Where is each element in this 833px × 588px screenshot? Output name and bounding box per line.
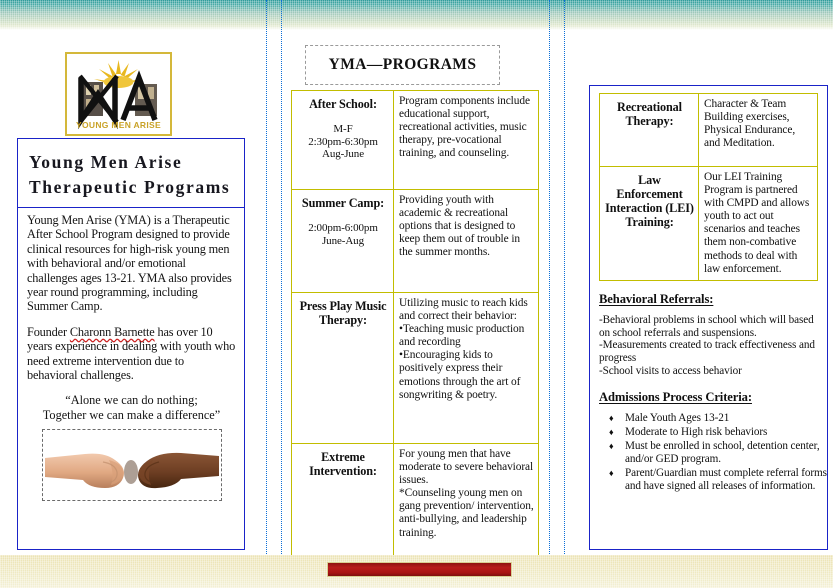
programs-header-text: YMA—PROGRAMS <box>329 56 477 74</box>
behavioral-referrals-heading: Behavioral Referrals: <box>599 292 827 307</box>
program-name: Press Play Music Therapy: <box>300 299 387 327</box>
table-row: Law Enforcement Interaction (LEI) Traini… <box>600 167 818 281</box>
quote-line-1: “Alone we can do nothing; <box>27 393 236 408</box>
program-schedule-2: June-Aug <box>297 235 389 248</box>
fist-bump-illustration <box>43 430 221 500</box>
program-name-cell: Press Play Music Therapy: <box>292 293 394 444</box>
program-schedule-3: Aug-June <box>297 148 389 161</box>
program-name-cell: Recreational Therapy: <box>600 94 699 167</box>
behavioral-referrals-list: -Behavioral problems in school which wil… <box>599 314 827 378</box>
program-name: Extreme Intervention: <box>309 450 377 478</box>
program-schedule-2: 2:30pm-6:30pm <box>297 136 389 149</box>
quote-line-2: Together we can make a difference” <box>27 408 236 423</box>
svg-text:YOUNG MEN ARISE: YOUNG MEN ARISE <box>76 120 161 130</box>
program-name: After School: <box>309 97 377 111</box>
program-name-cell: Summer Camp: 2:00pm-6:00pm June-Aug <box>292 190 394 293</box>
brochure-page: YOUNG MEN ARISE Young Men Arise Therapeu… <box>0 0 833 588</box>
program-description-cell: Our LEI Training Program is partnered wi… <box>699 167 818 281</box>
right-panel-text: Behavioral Referrals: -Behavioral proble… <box>599 292 827 494</box>
intro-text-box: Young Men Arise (YMA) is a Therapeutic A… <box>17 208 245 550</box>
list-item: -School visits to access behavior <box>599 365 827 378</box>
founder-name: Charonn Barnette <box>70 325 155 339</box>
program-name: Summer Camp: <box>302 196 384 210</box>
title-line-1: Young Men Arise <box>29 150 239 175</box>
programs-header-box: YMA—PROGRAMS <box>305 45 500 85</box>
page-title: Young Men Arise Therapeutic Programs <box>29 150 239 200</box>
admissions-criteria-list: Male Youth Ages 13-21 Moderate to High r… <box>599 412 827 493</box>
program-description-cell: Utilizing music to reach kids and correc… <box>394 293 539 444</box>
table-row: After School: M-F 2:30pm-6:30pm Aug-June… <box>292 91 539 190</box>
program-description-cell: Program components include educational s… <box>394 91 539 190</box>
title-line-2: Therapeutic Programs <box>29 175 239 200</box>
program-schedule-1: M-F <box>297 123 389 136</box>
fold-guide-left-outer <box>281 0 282 588</box>
table-row: Press Play Music Therapy: Utilizing musi… <box>292 293 539 444</box>
list-item: Moderate to High risk behaviors <box>625 426 827 439</box>
program-schedule-1: 2:00pm-6:00pm <box>297 222 389 235</box>
mission-quote: “Alone we can do nothing; Together we ca… <box>27 393 236 422</box>
yma-logo-icon: YOUNG MEN ARISE <box>67 54 170 134</box>
admissions-criteria-heading: Admissions Process Criteria: <box>599 390 827 405</box>
fold-guide-right-outer <box>564 0 565 588</box>
list-item: Must be enrolled in school, detention ce… <box>625 440 827 466</box>
fist-bump-photo <box>42 429 222 501</box>
founder-prefix: Founder <box>27 325 70 339</box>
program-description-cell: Providing youth with academic & recreati… <box>394 190 539 293</box>
program-name-cell: Law Enforcement Interaction (LEI) Traini… <box>600 167 699 281</box>
bottom-red-accent-bar <box>327 562 512 577</box>
brochure-title-box: Young Men Arise Therapeutic Programs <box>17 138 245 208</box>
table-row: Summer Camp: 2:00pm-6:00pm June-Aug Prov… <box>292 190 539 293</box>
list-item: Male Youth Ages 13-21 <box>625 412 827 425</box>
programs-table: After School: M-F 2:30pm-6:30pm Aug-June… <box>291 90 539 580</box>
yma-logo: YOUNG MEN ARISE <box>65 52 172 136</box>
panel-left: YOUNG MEN ARISE Young Men Arise Therapeu… <box>0 0 266 588</box>
program-description-cell: Character & Team Building exercises, Phy… <box>699 94 818 167</box>
list-item: -Behavioral problems in school which wil… <box>599 314 827 339</box>
table-row: Recreational Therapy: Character & Team B… <box>600 94 818 167</box>
additional-programs-table: Recreational Therapy: Character & Team B… <box>599 93 818 281</box>
program-name-cell: After School: M-F 2:30pm-6:30pm Aug-June <box>292 91 394 190</box>
fold-guide-right-inner <box>549 0 550 588</box>
intro-paragraph-1: Young Men Arise (YMA) is a Therapeutic A… <box>27 213 236 314</box>
list-item: -Measurements created to track effective… <box>599 339 827 364</box>
intro-paragraph-2: Founder Charonn Barnette has over 10 yea… <box>27 325 236 383</box>
fold-guide-left-inner <box>266 0 267 588</box>
list-item: Parent/Guardian must complete referral f… <box>625 467 827 493</box>
